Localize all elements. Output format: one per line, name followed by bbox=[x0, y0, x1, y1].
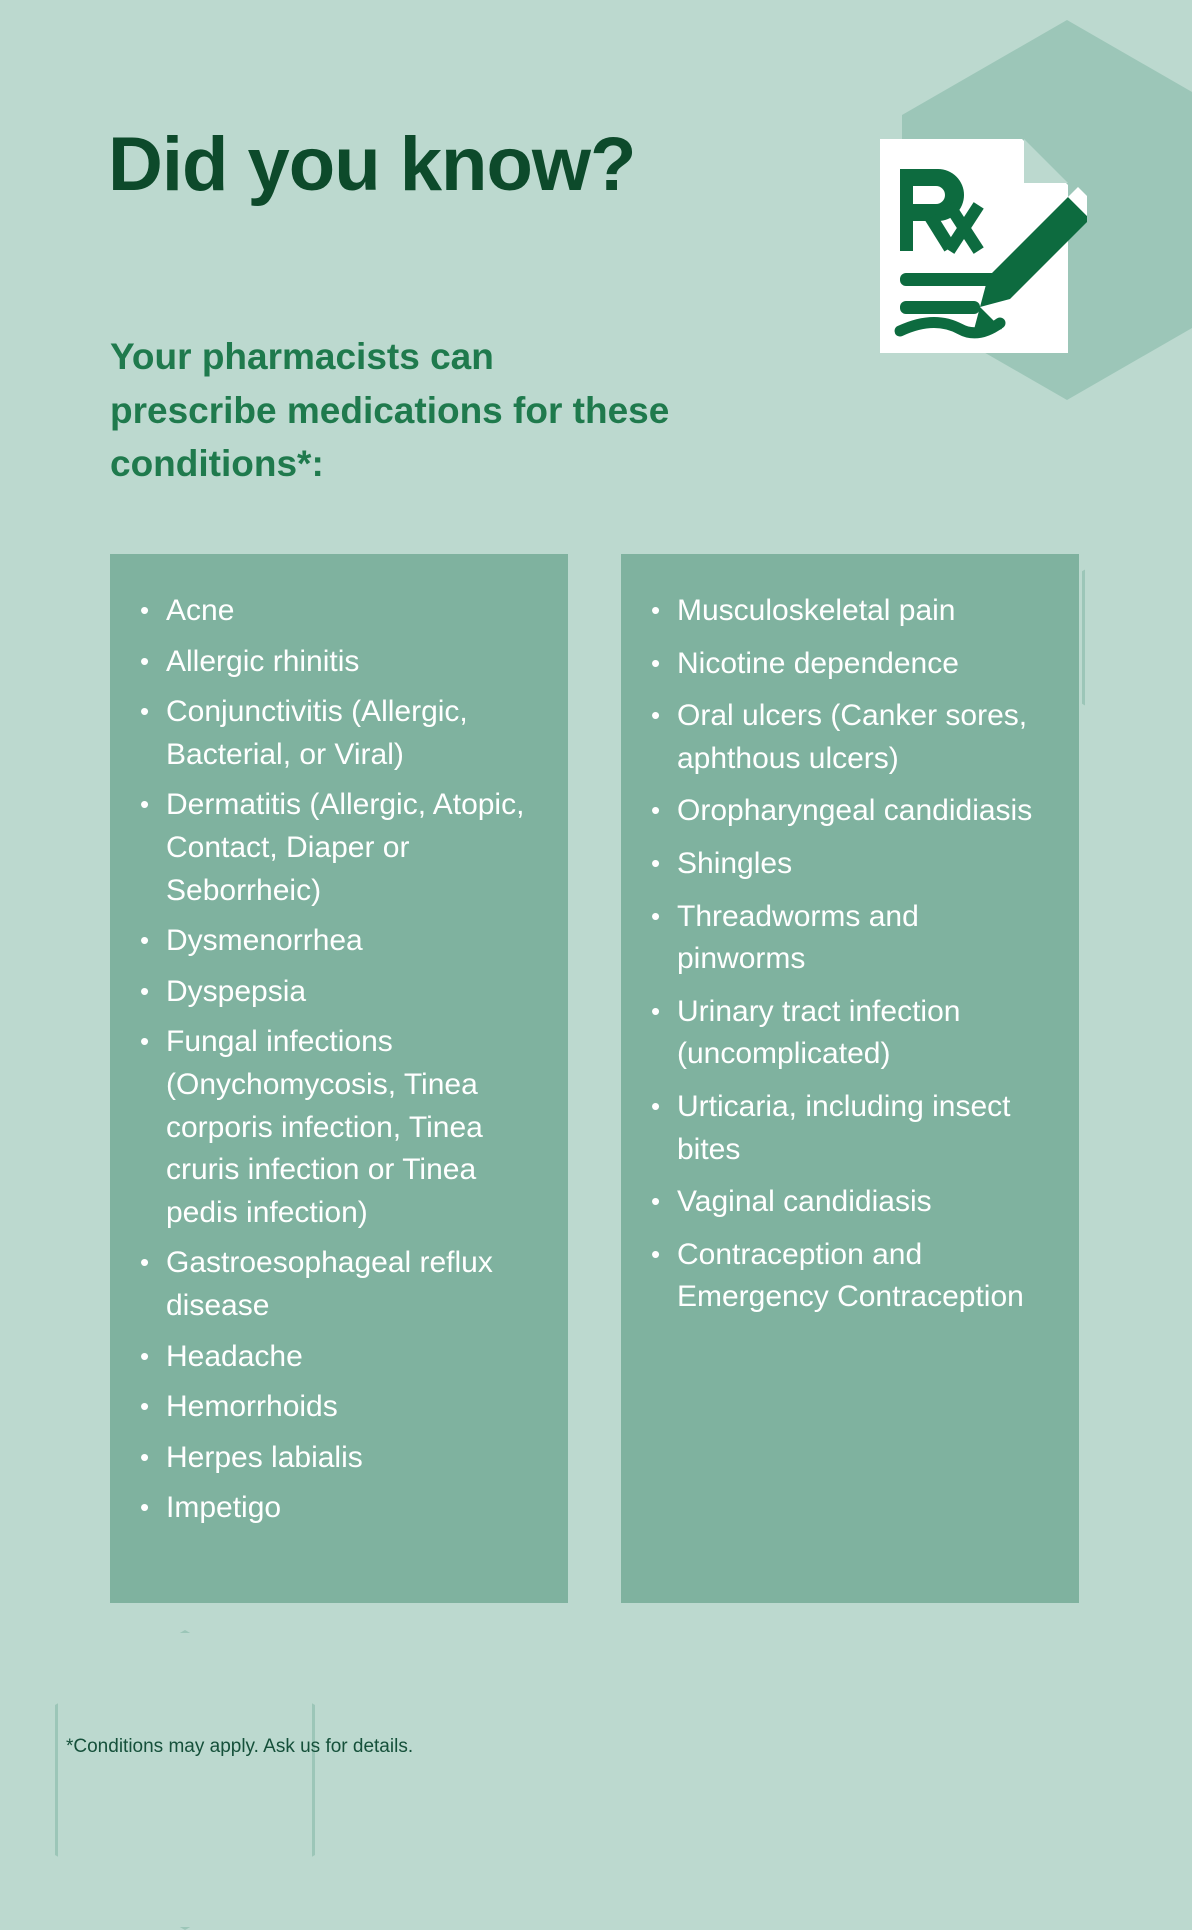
list-item: •Musculoskeletal pain bbox=[651, 590, 1053, 633]
conditions-list-right: •Musculoskeletal pain •Nicotine dependen… bbox=[621, 554, 1079, 1319]
bullet-icon: • bbox=[140, 1242, 166, 1327]
footnote-text: *Conditions may apply. Ask us for detail… bbox=[66, 1736, 413, 1758]
conditions-panel-right: •Musculoskeletal pain •Nicotine dependen… bbox=[621, 554, 1079, 1603]
prescription-pad-with-pen-icon bbox=[872, 135, 1087, 360]
condition-label: Nicotine dependence bbox=[677, 643, 1053, 686]
list-item: •Oropharyngeal candidiasis bbox=[651, 790, 1053, 833]
page-subtitle: Your pharmacists can prescribe medicatio… bbox=[110, 330, 670, 491]
list-item: •Threadworms and pinworms bbox=[651, 896, 1053, 981]
list-item: •Vaginal candidiasis bbox=[651, 1181, 1053, 1224]
list-item: •Headache bbox=[140, 1336, 542, 1379]
condition-label: Vaginal candidiasis bbox=[677, 1181, 1053, 1224]
bullet-icon: • bbox=[651, 1234, 677, 1319]
condition-label: Dyspepsia bbox=[166, 971, 542, 1014]
bullet-icon: • bbox=[651, 896, 677, 981]
bullet-icon: • bbox=[140, 920, 166, 963]
condition-label: Fungal infections (Onychomycosis, Tinea … bbox=[166, 1021, 542, 1234]
list-item: •Urinary tract infection (uncomplicated) bbox=[651, 991, 1053, 1076]
bullet-icon: • bbox=[140, 1487, 166, 1530]
condition-label: Contraception and Emergency Contraceptio… bbox=[677, 1234, 1053, 1319]
list-item: •Dyspepsia bbox=[140, 971, 542, 1014]
bullet-icon: • bbox=[140, 1437, 166, 1480]
condition-label: Herpes labialis bbox=[166, 1437, 542, 1480]
condition-label: Shingles bbox=[677, 843, 1053, 886]
bullet-icon: • bbox=[651, 1181, 677, 1224]
bullet-icon: • bbox=[140, 971, 166, 1014]
condition-label: Urinary tract infection (uncomplicated) bbox=[677, 991, 1053, 1076]
list-item: •Oral ulcers (Canker sores, aphthous ulc… bbox=[651, 695, 1053, 780]
list-item: •Conjunctivitis (Allergic, Bacterial, or… bbox=[140, 691, 542, 776]
list-item: •Acne bbox=[140, 590, 542, 633]
condition-label: Dermatitis (Allergic, Atopic, Contact, D… bbox=[166, 784, 542, 912]
condition-label: Allergic rhinitis bbox=[166, 641, 542, 684]
hexagon-outline-bottom-left bbox=[55, 1630, 315, 1930]
list-item: •Herpes labialis bbox=[140, 1437, 542, 1480]
condition-label: Acne bbox=[166, 590, 542, 633]
bullet-icon: • bbox=[651, 695, 677, 780]
list-item: •Urticaria, including insect bites bbox=[651, 1086, 1053, 1171]
bullet-icon: • bbox=[140, 691, 166, 776]
condition-label: Headache bbox=[166, 1336, 542, 1379]
condition-label: Oropharyngeal candidiasis bbox=[677, 790, 1053, 833]
condition-label: Musculoskeletal pain bbox=[677, 590, 1053, 633]
condition-label: Dysmenorrhea bbox=[166, 920, 542, 963]
list-item: •Fungal infections (Onychomycosis, Tinea… bbox=[140, 1021, 542, 1234]
bullet-icon: • bbox=[651, 790, 677, 833]
condition-label: Urticaria, including insect bites bbox=[677, 1086, 1053, 1171]
conditions-list-left: •Acne •Allergic rhinitis •Conjunctivitis… bbox=[110, 554, 568, 1530]
bullet-icon: • bbox=[140, 1386, 166, 1429]
list-item: •Hemorrhoids bbox=[140, 1386, 542, 1429]
hexagon-outline-mid-right bbox=[1082, 505, 1192, 770]
list-item: •Shingles bbox=[651, 843, 1053, 886]
bullet-icon: • bbox=[140, 641, 166, 684]
condition-label: Threadworms and pinworms bbox=[677, 896, 1053, 981]
list-item: •Contraception and Emergency Contracepti… bbox=[651, 1234, 1053, 1319]
bullet-icon: • bbox=[140, 1021, 166, 1234]
condition-label: Impetigo bbox=[166, 1487, 542, 1530]
bullet-icon: • bbox=[651, 643, 677, 686]
bullet-icon: • bbox=[651, 991, 677, 1076]
list-item: •Dysmenorrhea bbox=[140, 920, 542, 963]
list-item: •Gastroesophageal reflux disease bbox=[140, 1242, 542, 1327]
bullet-icon: • bbox=[140, 1336, 166, 1379]
page-title: Did you know? bbox=[108, 125, 635, 205]
list-item: •Nicotine dependence bbox=[651, 643, 1053, 686]
list-item: •Allergic rhinitis bbox=[140, 641, 542, 684]
bullet-icon: • bbox=[140, 590, 166, 633]
list-item: •Impetigo bbox=[140, 1487, 542, 1530]
condition-label: Oral ulcers (Canker sores, aphthous ulce… bbox=[677, 695, 1053, 780]
condition-label: Gastroesophageal reflux disease bbox=[166, 1242, 542, 1327]
conditions-panel-left: •Acne •Allergic rhinitis •Conjunctivitis… bbox=[110, 554, 568, 1603]
bullet-icon: • bbox=[651, 1086, 677, 1171]
condition-label: Conjunctivitis (Allergic, Bacterial, or … bbox=[166, 691, 542, 776]
condition-label: Hemorrhoids bbox=[166, 1386, 542, 1429]
bullet-icon: • bbox=[651, 590, 677, 633]
bullet-icon: • bbox=[651, 843, 677, 886]
list-item: •Dermatitis (Allergic, Atopic, Contact, … bbox=[140, 784, 542, 912]
bullet-icon: • bbox=[140, 784, 166, 912]
